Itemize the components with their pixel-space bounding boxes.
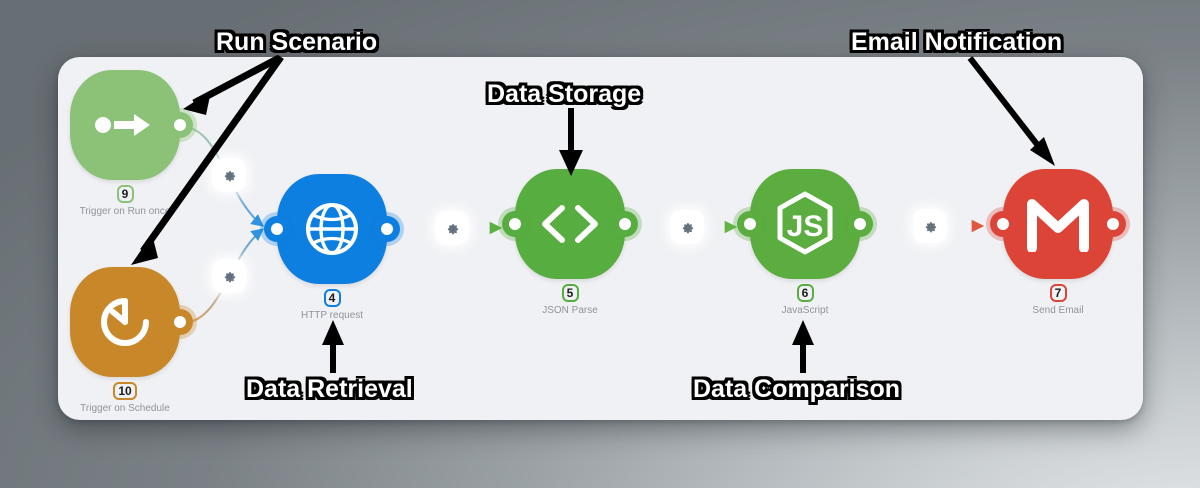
node-label: JavaScript xyxy=(782,305,829,316)
gear-schedule-to-http[interactable] xyxy=(212,259,246,293)
node-body[interactable]: JS xyxy=(750,169,860,279)
gear-icon xyxy=(923,219,938,234)
gear-http-to-json[interactable] xyxy=(435,211,469,245)
annotation-label: Run Scenario xyxy=(216,28,377,57)
gear-json-to-js[interactable] xyxy=(670,210,704,244)
node-http-request[interactable]: 4 HTTP request xyxy=(277,174,387,321)
node-body[interactable] xyxy=(70,267,180,377)
annotation-label: Data Storage xyxy=(487,80,641,109)
node-badge: 5 xyxy=(562,284,579,302)
node-json-parse[interactable]: 5 JSON Parse xyxy=(515,169,625,316)
gmail-m-icon xyxy=(1024,196,1092,252)
gear-icon xyxy=(445,221,460,236)
node-badge: 10 xyxy=(113,382,136,400)
globe-icon xyxy=(302,199,362,259)
input-port[interactable] xyxy=(264,216,290,242)
node-send-email[interactable]: 7 Send Email xyxy=(1003,169,1113,316)
input-port[interactable] xyxy=(990,211,1016,237)
node-label: Send Email xyxy=(1032,305,1083,316)
annotation-data-storage: Data Storage xyxy=(487,80,641,109)
node-trigger-run-once[interactable]: 9 Trigger on Run once xyxy=(70,70,180,217)
node-badge: 6 xyxy=(797,284,814,302)
annotation-label: Email Notification xyxy=(851,28,1062,57)
gear-icon xyxy=(222,269,237,284)
gear-js-to-email[interactable] xyxy=(913,209,947,243)
annotation-email-notification: Email Notification xyxy=(851,28,1062,57)
scenario-canvas[interactable]: 9 Trigger on Run once 10 Trigger on Sche… xyxy=(58,57,1143,420)
output-port[interactable] xyxy=(167,309,193,335)
annotation-data-retrieval: Data Retrieval xyxy=(246,375,413,404)
node-javascript[interactable]: JS 6 JavaScript xyxy=(750,169,860,316)
node-label: HTTP request xyxy=(301,310,363,321)
output-port[interactable] xyxy=(847,211,873,237)
output-port[interactable] xyxy=(374,216,400,242)
gear-run-once-to-http[interactable] xyxy=(212,158,246,192)
code-brackets-icon xyxy=(537,202,603,246)
screenshot-stage: 9 Trigger on Run once 10 Trigger on Sche… xyxy=(0,0,1200,488)
play-arrow-icon xyxy=(94,112,156,138)
output-port[interactable] xyxy=(167,112,193,138)
node-badge: 7 xyxy=(1050,284,1067,302)
input-port[interactable] xyxy=(502,211,528,237)
annotation-run-scenario: Run Scenario xyxy=(216,28,377,57)
node-badge: 4 xyxy=(324,289,341,307)
node-body[interactable] xyxy=(1003,169,1113,279)
output-port[interactable] xyxy=(612,211,638,237)
node-trigger-schedule[interactable]: 10 Trigger on Schedule xyxy=(70,267,180,414)
node-body[interactable] xyxy=(70,70,180,180)
node-label: Trigger on Schedule xyxy=(80,403,170,414)
annotation-label: Data Retrieval xyxy=(246,375,413,404)
clock-timer-icon xyxy=(94,291,156,353)
annotation-label: Data Comparison xyxy=(693,375,900,404)
svg-text:JS: JS xyxy=(787,210,824,243)
node-body[interactable] xyxy=(515,169,625,279)
input-port[interactable] xyxy=(737,211,763,237)
gear-icon xyxy=(222,168,237,183)
node-label: Trigger on Run once xyxy=(80,206,171,217)
node-label: JSON Parse xyxy=(542,305,598,316)
node-body[interactable] xyxy=(277,174,387,284)
node-badge: 9 xyxy=(117,185,134,203)
nodejs-js-icon: JS xyxy=(773,190,837,258)
annotation-data-comparison: Data Comparison xyxy=(693,375,900,404)
output-port[interactable] xyxy=(1100,211,1126,237)
gear-icon xyxy=(680,220,695,235)
